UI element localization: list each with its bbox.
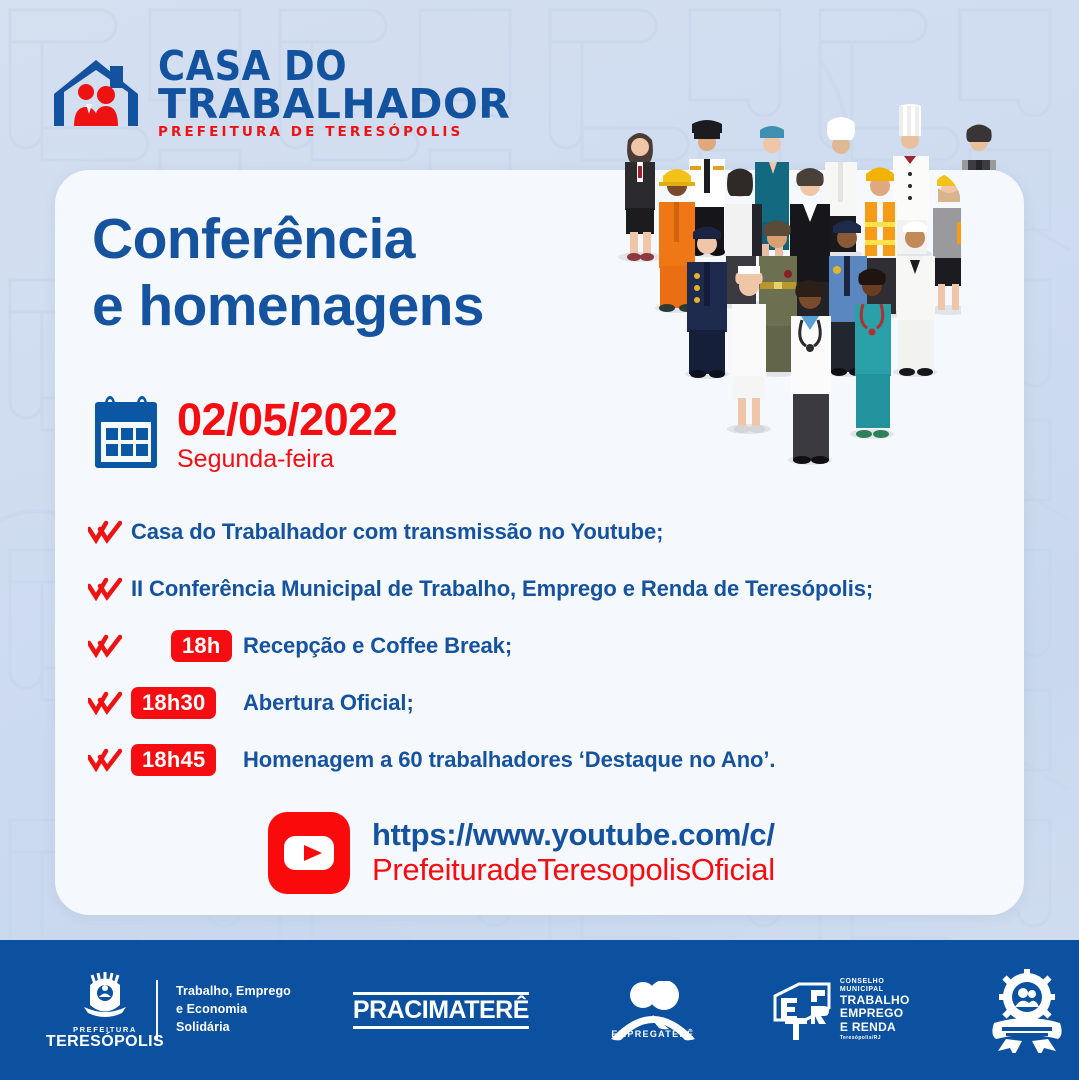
footer-prefeitura-city: TERESÓPOLIS bbox=[46, 1034, 164, 1050]
list-item: II Conferência Municipal de Trabalho, Em… bbox=[88, 569, 1008, 609]
agenda-list: Casa do Trabalhador com transmissão no Y… bbox=[88, 512, 1008, 797]
double-check-icon bbox=[88, 520, 122, 544]
double-check-icon bbox=[88, 691, 122, 715]
footer-logo-prefeitura: PREFEITURA TERESÓPOLIS Trabalho, Emprego… bbox=[72, 971, 291, 1050]
time-badge: 18h45 bbox=[131, 744, 216, 777]
house-family-icon bbox=[50, 54, 142, 132]
footer-conselho-top: CONSELHO MUNICIPAL bbox=[840, 978, 910, 994]
double-check-icon bbox=[88, 748, 122, 772]
list-item-text: Homenagem a 60 trabalhadores ‘Destaque n… bbox=[243, 747, 775, 773]
youtube-url-line-2[interactable]: PrefeituradeTeresopolisOficial bbox=[372, 853, 775, 888]
event-date: 02/05/2022 bbox=[177, 396, 397, 443]
page-title: Conferência e homenagens bbox=[92, 206, 484, 339]
list-item-text: Casa do Trabalhador com transmissão no Y… bbox=[131, 519, 663, 545]
time-slot: 18h45 bbox=[131, 744, 243, 777]
event-date-block: 02/05/2022 Segunda-feira bbox=[93, 396, 397, 474]
footer-secretaria-label: Trabalho, Emprego e Economia Solidária bbox=[176, 983, 291, 1036]
youtube-icon[interactable] bbox=[268, 812, 350, 894]
logo-line-3: PREFEITURA DE TERESÓPOLIS bbox=[158, 126, 510, 138]
youtube-link-row[interactable]: https://www.youtube.com/c/ PrefeituradeT… bbox=[268, 812, 775, 894]
headline-line-1: Conferência bbox=[92, 206, 484, 273]
list-item-text: Recepção e Coffee Break; bbox=[243, 633, 512, 659]
double-check-icon bbox=[88, 577, 122, 601]
list-item: Casa do Trabalhador com transmissão no Y… bbox=[88, 512, 1008, 552]
headline-line-2: e homenagens bbox=[92, 273, 484, 340]
footer-bar: PREFEITURA TERESÓPOLIS Trabalho, Emprego… bbox=[0, 940, 1079, 1080]
event-weekday: Segunda-feira bbox=[177, 445, 397, 474]
logo-line-2: TRABALHADOR bbox=[158, 86, 510, 124]
calendar-icon bbox=[93, 396, 159, 470]
conselho-cube-icon bbox=[771, 978, 833, 1042]
list-item-text: II Conferência Municipal de Trabalho, Em… bbox=[131, 576, 873, 602]
footer-pracimatere-label: PRACIMATERÊ bbox=[353, 992, 529, 1029]
time-slot: 18h bbox=[131, 630, 243, 663]
double-check-icon bbox=[88, 634, 122, 658]
time-badge: 18h bbox=[171, 630, 232, 663]
sindicato-seal-icon bbox=[984, 967, 1070, 1053]
brand-logo: CASA DO TRABALHADOR PREFEITURA DE TERESÓ… bbox=[50, 48, 510, 139]
list-item-text: Abertura Oficial; bbox=[243, 690, 414, 716]
footer-conselho-big: TRABALHO EMPREGO E RENDA bbox=[840, 994, 910, 1034]
list-item: 18h45 Homenagem a 60 trabalhadores ‘Dest… bbox=[88, 740, 1008, 780]
teresopolis-coat-of-arms-icon bbox=[78, 971, 132, 1023]
time-slot: 18h30 bbox=[131, 687, 243, 720]
footer-empregatere-label: EMPREGATERÊ bbox=[611, 1029, 694, 1039]
footer-logo-pracimatere: PRACIMATERÊ bbox=[353, 992, 529, 1029]
footer-logo-conselho: CONSELHO MUNICIPAL TRABALHO EMPREGO E RE… bbox=[771, 978, 910, 1042]
footer-logo-empregatere: EMPREGATERÊ bbox=[607, 981, 699, 1039]
footer-divider bbox=[156, 980, 158, 1040]
footer-logo-sindicato bbox=[984, 967, 1070, 1053]
list-item: 18h Recepção e Coffee Break; bbox=[88, 626, 1008, 666]
footer-conselho-sub: Teresópolis/RJ bbox=[840, 1036, 910, 1042]
time-badge: 18h30 bbox=[131, 687, 216, 720]
youtube-url-line-1[interactable]: https://www.youtube.com/c/ bbox=[372, 818, 775, 853]
list-item: 18h30 Abertura Oficial; bbox=[88, 683, 1008, 723]
